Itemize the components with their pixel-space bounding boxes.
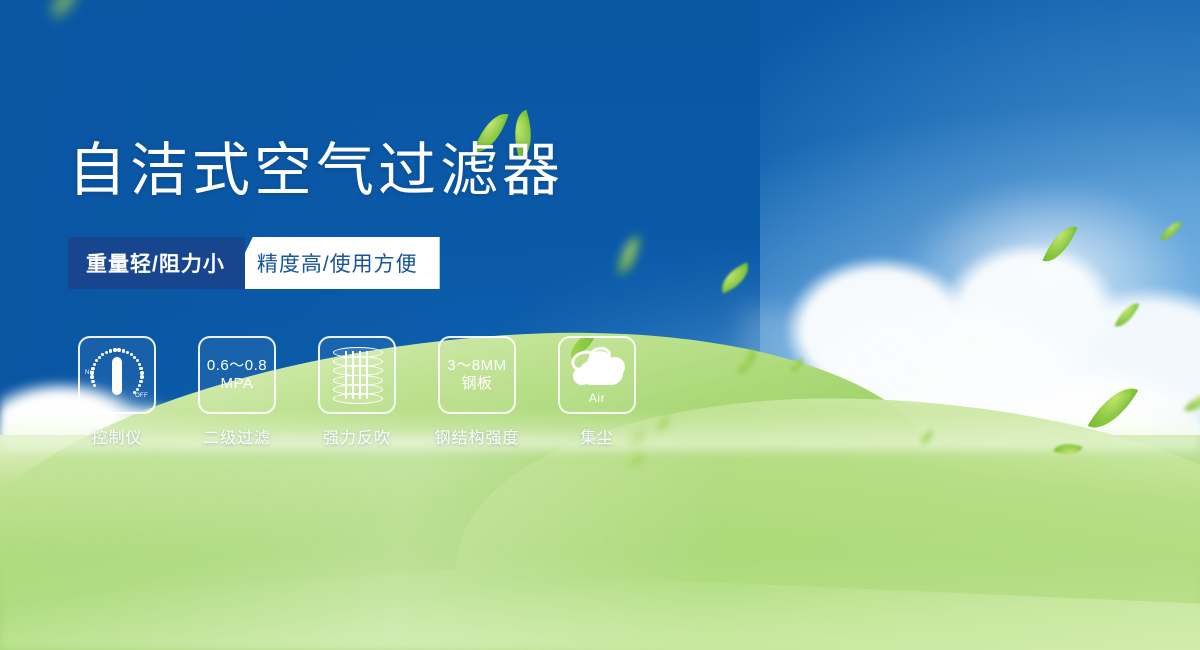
dial-tick-dot bbox=[138, 363, 142, 367]
page-title: 自洁式空气过滤器 bbox=[68, 142, 564, 200]
feature-caption-filter: 二级过滤 bbox=[203, 424, 271, 448]
dial-tick-dot bbox=[113, 348, 117, 352]
feature-box-steel: 3〜8MM 钢板 bbox=[438, 336, 516, 414]
feature-caption-control: 控制仪 bbox=[91, 424, 142, 448]
grass-light-sheen bbox=[0, 435, 1200, 650]
tagline-bar: 重量轻/阻力小 精度高/使用方便 bbox=[68, 237, 440, 289]
feature-item-steel[interactable]: 3〜8MM 钢板 钢结构强度 bbox=[438, 336, 516, 448]
dial-tick-dot bbox=[136, 359, 140, 363]
dial-tick-dot bbox=[93, 384, 97, 388]
banner-stage: 自洁式空气过滤器 重量轻/阻力小 精度高/使用方便 NO OFF 控制仪 0.6… bbox=[0, 0, 1200, 650]
feature-item-dust[interactable]: Air 集尘 bbox=[558, 336, 636, 448]
dial-tick-dot bbox=[91, 367, 95, 371]
coil-stem bbox=[345, 351, 347, 399]
dial-pointer bbox=[112, 357, 122, 395]
feature-caption-blowback: 强力反吹 bbox=[323, 424, 391, 448]
dial-tick-dot bbox=[90, 375, 94, 379]
tagline-left-segment: 重量轻/阻力小 bbox=[68, 237, 245, 289]
dial-tick-dot bbox=[93, 363, 97, 367]
feature-caption-steel: 钢结构强度 bbox=[435, 424, 520, 448]
dial-tick-dot bbox=[139, 380, 143, 384]
dial-tick-dot bbox=[140, 375, 144, 379]
coil-ring bbox=[333, 393, 383, 404]
feature-box-dust: Air bbox=[558, 336, 636, 414]
dial-tick-dot bbox=[138, 384, 142, 388]
dial-tick-dot bbox=[98, 356, 102, 360]
feature-item-filter[interactable]: 0.6〜0.8 MPA 二级过滤 bbox=[198, 336, 276, 448]
dial-control-icon: NO OFF bbox=[86, 344, 148, 406]
air-label: Air bbox=[567, 391, 627, 405]
coil-stem bbox=[352, 351, 354, 399]
feature-box-control: NO OFF bbox=[78, 336, 156, 414]
filter-coil-icon bbox=[333, 347, 381, 403]
tagline-right-segment: 精度高/使用方便 bbox=[227, 237, 440, 289]
dial-tick-dot bbox=[95, 359, 99, 363]
feature-caption-dust: 集尘 bbox=[580, 424, 614, 448]
dial-tick-dot bbox=[117, 348, 121, 352]
pressure-value: 0.6〜0.8 bbox=[207, 357, 267, 375]
dial-tick-dot bbox=[136, 388, 140, 392]
feature-box-blowback bbox=[318, 336, 396, 414]
feature-icon-row: NO OFF 控制仪 0.6〜0.8 MPA 二级过滤 强力反吹 bbox=[78, 336, 636, 448]
dial-tick-dot bbox=[109, 349, 113, 353]
feature-item-control[interactable]: NO OFF 控制仪 bbox=[78, 336, 156, 448]
coil-stem bbox=[366, 351, 368, 399]
dial-tick-dot bbox=[105, 351, 109, 355]
dial-tick-dot bbox=[122, 349, 126, 353]
steel-plate-text-icon: 3〜8MM 钢板 bbox=[447, 357, 506, 392]
steel-thickness: 3〜8MM bbox=[447, 357, 506, 375]
dial-off-label: OFF bbox=[135, 393, 148, 399]
dial-tick-dot bbox=[140, 371, 144, 375]
cloud-body bbox=[579, 361, 623, 385]
dial-tick-dot bbox=[101, 353, 105, 357]
feature-box-filter: 0.6〜0.8 MPA bbox=[198, 336, 276, 414]
air-cloud-icon: Air bbox=[567, 347, 627, 403]
dial-tick-dot bbox=[126, 351, 130, 355]
dial-tick-dot bbox=[139, 367, 143, 371]
feature-item-blowback[interactable]: 强力反吹 bbox=[318, 336, 396, 448]
pressure-unit: MPA bbox=[207, 375, 267, 393]
dial-tick-dot bbox=[90, 371, 94, 375]
coil-stem bbox=[359, 351, 361, 399]
pressure-text-icon: 0.6〜0.8 MPA bbox=[207, 357, 267, 392]
dial-tick-dot bbox=[91, 380, 95, 384]
steel-material: 钢板 bbox=[447, 375, 506, 393]
